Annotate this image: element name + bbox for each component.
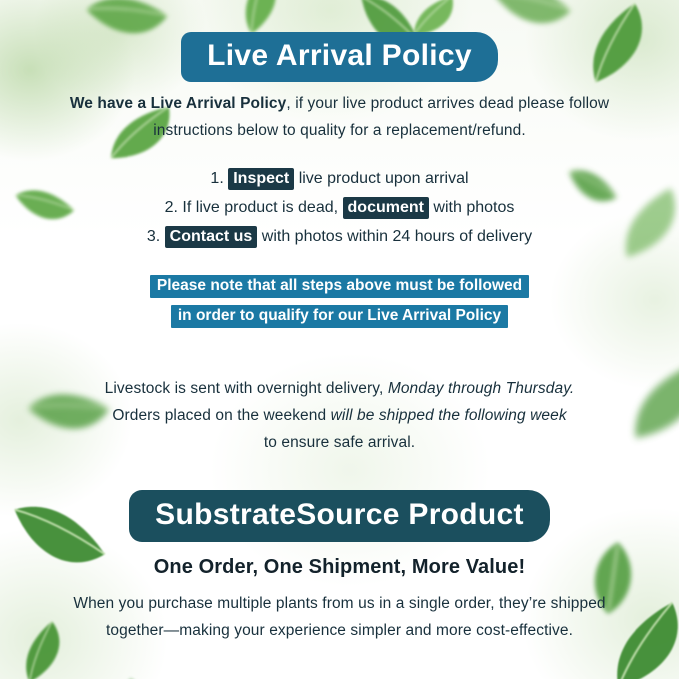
step-post-text: live product upon arrival	[299, 170, 469, 187]
substratesource-product-banner-title: SubstrateSource Product	[129, 490, 550, 542]
policy-note-line-2: in order to qualify for our Live Arrival…	[171, 305, 508, 328]
step-highlight: Inspect	[228, 168, 294, 190]
intro-line-2: instructions below to quality for a repl…	[40, 117, 639, 144]
step-pre-text: If live product is dead,	[182, 199, 338, 216]
shipping-line-2-plain: Orders placed on the weekend	[112, 407, 326, 424]
policy-note-callout: Please note that all steps above must be…	[40, 275, 639, 328]
intro-bold-lead: We have a Live Arrival Policy	[70, 95, 287, 112]
shipping-line-3: to ensure safe arrival.	[40, 429, 639, 456]
shipping-schedule-paragraph: Livestock is sent with overnight deliver…	[40, 375, 639, 456]
list-item: 1. Inspect live product upon arrival	[40, 164, 639, 193]
policy-steps-list: 1. Inspect live product upon arrival 2. …	[40, 164, 639, 251]
intro-line-1: We have a Live Arrival Policy, if your l…	[40, 90, 639, 117]
step-highlight: document	[343, 197, 429, 219]
step-highlight: Contact us	[165, 226, 258, 248]
live-arrival-policy-banner-title: Live Arrival Policy	[181, 32, 498, 82]
intro-paragraph: We have a Live Arrival Policy, if your l…	[40, 90, 639, 144]
step-post-text: with photos	[433, 199, 514, 216]
step-number: 3.	[147, 228, 160, 245]
step-number: 2.	[165, 199, 178, 216]
shipping-line-2: Orders placed on the weekend will be shi…	[40, 402, 639, 429]
shipping-line-1: Livestock is sent with overnight deliver…	[40, 375, 639, 402]
list-item: 3. Contact us with photos within 24 hour…	[40, 222, 639, 251]
list-item: 2. If live product is dead, document wit…	[40, 193, 639, 222]
combined-shipping-line-1: When you purchase multiple plants from u…	[40, 590, 639, 617]
value-subheading: One Order, One Shipment, More Value!	[40, 556, 639, 579]
combined-shipping-line-2: together—making your experience simpler …	[40, 617, 639, 644]
step-number: 1.	[210, 170, 223, 187]
shipping-line-1-italic: Monday through Thursday.	[388, 380, 575, 397]
substratesource-product-banner: SubstrateSource Product	[0, 490, 679, 542]
shipping-line-2-italic: will be shipped the following week	[331, 407, 567, 424]
policy-note-line-1: Please note that all steps above must be…	[150, 275, 529, 298]
step-post-text: with photos within 24 hours of delivery	[262, 228, 532, 245]
live-arrival-policy-banner: Live Arrival Policy	[0, 32, 679, 82]
shipping-line-1-plain: Livestock is sent with overnight deliver…	[105, 380, 384, 397]
combined-shipping-paragraph: When you purchase multiple plants from u…	[40, 590, 639, 644]
intro-rest-line-1: , if your live product arrives dead plea…	[286, 95, 609, 112]
live-arrival-policy-infographic: Live Arrival Policy We have a Live Arriv…	[0, 0, 679, 679]
